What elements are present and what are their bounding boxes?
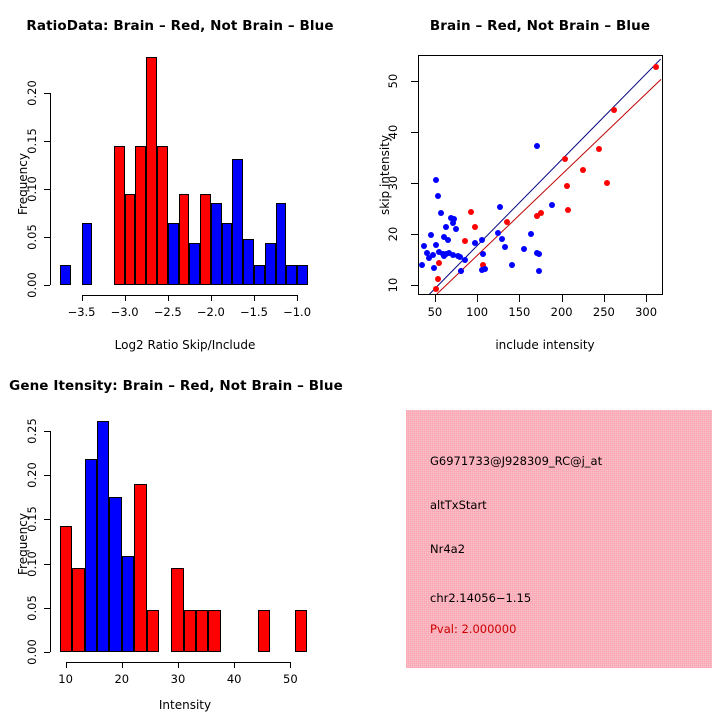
y-tick (411, 234, 418, 235)
histogram-bar (232, 159, 243, 285)
histogram-bar (200, 194, 211, 285)
scatter-point (451, 216, 457, 222)
scatter-point (419, 262, 425, 268)
scatter-point (462, 238, 468, 244)
histogram-bar (85, 459, 97, 652)
y-tick-label: 10 (386, 268, 400, 302)
scatter-point (604, 180, 610, 186)
histogram-bar (211, 203, 222, 285)
x-tick-label: 40 (209, 672, 259, 686)
scatter-point (421, 243, 427, 249)
y-axis-line (50, 431, 51, 652)
scatter-point (565, 207, 571, 213)
locus-text: chr2.14056−1.15 (430, 591, 531, 605)
x-tick (234, 662, 235, 668)
scatter-point (611, 107, 617, 113)
scatter-point (564, 183, 570, 189)
y-tick-label: 0.10 (25, 169, 39, 209)
histogram-bar (208, 610, 220, 652)
scatter-point (499, 236, 505, 242)
y-tick (44, 141, 50, 142)
y-tick (44, 475, 50, 476)
x-tick (604, 295, 605, 302)
scatter-point (433, 242, 439, 248)
x-tick-label: 300 (621, 305, 671, 319)
scatter-point (495, 230, 501, 236)
histogram-bar (295, 610, 307, 652)
y-tick-label: 20 (386, 217, 400, 251)
scatter-point (502, 244, 508, 250)
histogram-bar (286, 265, 297, 285)
x-tick (254, 295, 255, 301)
scatter-point (443, 224, 449, 230)
y-tick-label: 0.20 (25, 455, 39, 495)
histogram-bar (297, 265, 308, 285)
y-tick (44, 564, 50, 565)
histogram-bar (97, 421, 109, 652)
histogram-bar (184, 610, 196, 652)
scatter-point (468, 209, 474, 215)
y-tick (411, 285, 418, 286)
y-tick (44, 652, 50, 653)
histogram-bar (196, 610, 208, 652)
histogram-bar (72, 568, 84, 652)
scatter-point (562, 156, 568, 162)
scatter-point (549, 202, 555, 208)
y-tick-label: 0.15 (25, 499, 39, 539)
scatter-point (433, 286, 439, 292)
scatter-point (428, 232, 434, 238)
histogram-bar (265, 243, 276, 285)
y-tick (44, 431, 50, 432)
y-tick-label: 30 (386, 166, 400, 200)
scatter-point (482, 266, 488, 272)
x-tick-label: 10 (41, 672, 91, 686)
scatter-point (438, 210, 444, 216)
scatter-xlabel: include intensity (400, 338, 690, 352)
scatter-point (479, 237, 485, 243)
y-tick-label: 0.10 (25, 544, 39, 584)
histogram-bar (146, 57, 157, 285)
x-tick (435, 295, 436, 302)
x-tick (477, 295, 478, 302)
y-tick-label: 50 (386, 64, 400, 98)
scatter-point (445, 237, 451, 243)
panel-annotation-info: G6971733@J928309_RC@j_at altTxStart Nr4a… (360, 360, 720, 720)
ratio-histogram-xlabel: Log2 Ratio Skip/Include (40, 338, 330, 352)
pval-text: Pval: 2.000000 (430, 622, 516, 636)
panel-gene-intensity-histogram: Gene Itensity: Brain – Red, Not Brain – … (0, 360, 360, 720)
y-tick-label: 0.05 (25, 217, 39, 257)
histogram-bar (82, 223, 93, 285)
y-tick (44, 519, 50, 520)
scatter-point (596, 146, 602, 152)
scatter-point (538, 210, 544, 216)
x-tick (122, 662, 123, 668)
x-tick (125, 295, 126, 301)
x-tick (82, 295, 83, 301)
x-tick (211, 295, 212, 301)
scatter-point (436, 260, 442, 266)
x-axis-line (82, 295, 298, 296)
scatter-point (462, 257, 468, 263)
x-tick (562, 295, 563, 302)
scatter-point (458, 268, 464, 274)
gene-histogram-xlabel: Intensity (40, 698, 330, 712)
scatter-point (536, 251, 542, 257)
scatter-point (435, 193, 441, 199)
y-tick-label: 0.25 (25, 411, 39, 451)
histogram-bar (179, 194, 190, 285)
scatter-point (536, 268, 542, 274)
event-type-text: altTxStart (430, 498, 487, 512)
x-tick-label: −1.0 (272, 305, 322, 319)
histogram-bar (60, 265, 71, 285)
y-tick (44, 237, 50, 238)
ratio-histogram-title: RatioData: Brain – Red, Not Brain – Blue (0, 18, 360, 34)
y-tick (44, 189, 50, 190)
histogram-bar (258, 610, 270, 652)
histogram-bar (147, 610, 159, 652)
scatter-point (497, 204, 503, 210)
scatter-title: Brain – Red, Not Brain – Blue (360, 18, 720, 34)
ratio-histogram-plot-area (60, 55, 310, 285)
y-tick (44, 608, 50, 609)
histogram-bar (189, 243, 200, 285)
scatter-point (653, 64, 659, 70)
histogram-bar (134, 484, 146, 652)
scatter-point (472, 224, 478, 230)
y-tick-label: 0.00 (25, 265, 39, 305)
panel-ratio-histogram: RatioData: Brain – Red, Not Brain – Blue… (0, 0, 360, 360)
y-tick (411, 132, 418, 133)
x-tick (290, 662, 291, 668)
y-tick (44, 285, 50, 286)
y-tick (44, 93, 50, 94)
scatter-point (430, 252, 436, 258)
histogram-bar (122, 556, 134, 652)
x-tick-label: 20 (97, 672, 147, 686)
scatter-point (528, 231, 534, 237)
x-tick (66, 662, 67, 668)
x-tick (168, 295, 169, 301)
scatter-point (580, 167, 586, 173)
scatter-point (431, 265, 437, 271)
histogram-bar (254, 265, 265, 285)
histogram-bar (60, 526, 72, 653)
y-tick (411, 183, 418, 184)
y-axis-line (50, 93, 51, 285)
histogram-bar (171, 568, 183, 652)
y-tick-label: 0.05 (25, 588, 39, 628)
x-tick-label: 50 (265, 672, 315, 686)
scatter-point (509, 262, 515, 268)
scatter-point (480, 251, 486, 257)
y-tick-label: 0.00 (25, 632, 39, 672)
x-tick (646, 295, 647, 302)
gene-histogram-plot-area (60, 422, 310, 652)
scatter-point (534, 143, 540, 149)
gene-histogram-title: Gene Itensity: Brain – Red, Not Brain – … (0, 378, 352, 394)
x-tick (519, 295, 520, 302)
y-tick-label: 0.15 (25, 121, 39, 161)
y-tick-label: 0.20 (25, 73, 39, 113)
scatter-point (453, 226, 459, 232)
x-tick-label: 30 (153, 672, 203, 686)
gene-symbol-text: Nr4a2 (430, 542, 465, 556)
scatter-point (433, 177, 439, 183)
x-tick (297, 295, 298, 301)
histogram-bar (168, 223, 179, 285)
histogram-bar (276, 203, 287, 285)
histogram-bar (135, 146, 146, 285)
histogram-bar (114, 146, 125, 285)
histogram-bar (243, 239, 254, 285)
histogram-bar (222, 223, 233, 285)
histogram-bar (109, 497, 121, 652)
scatter-clip (419, 56, 662, 294)
x-tick (178, 662, 179, 668)
scatter-point (521, 246, 527, 252)
scatter-point (435, 276, 441, 282)
scatter-plot-area (418, 55, 663, 295)
panel-intensity-scatter: Brain – Red, Not Brain – Blue skip inten… (360, 0, 720, 360)
y-tick (411, 81, 418, 82)
y-tick-label: 40 (386, 115, 400, 149)
histogram-bar (125, 194, 136, 285)
annotation-info-box: G6971733@J928309_RC@j_at altTxStart Nr4a… (406, 410, 712, 668)
probe-id-text: G6971733@J928309_RC@j_at (430, 454, 602, 468)
histogram-bar (157, 146, 168, 285)
